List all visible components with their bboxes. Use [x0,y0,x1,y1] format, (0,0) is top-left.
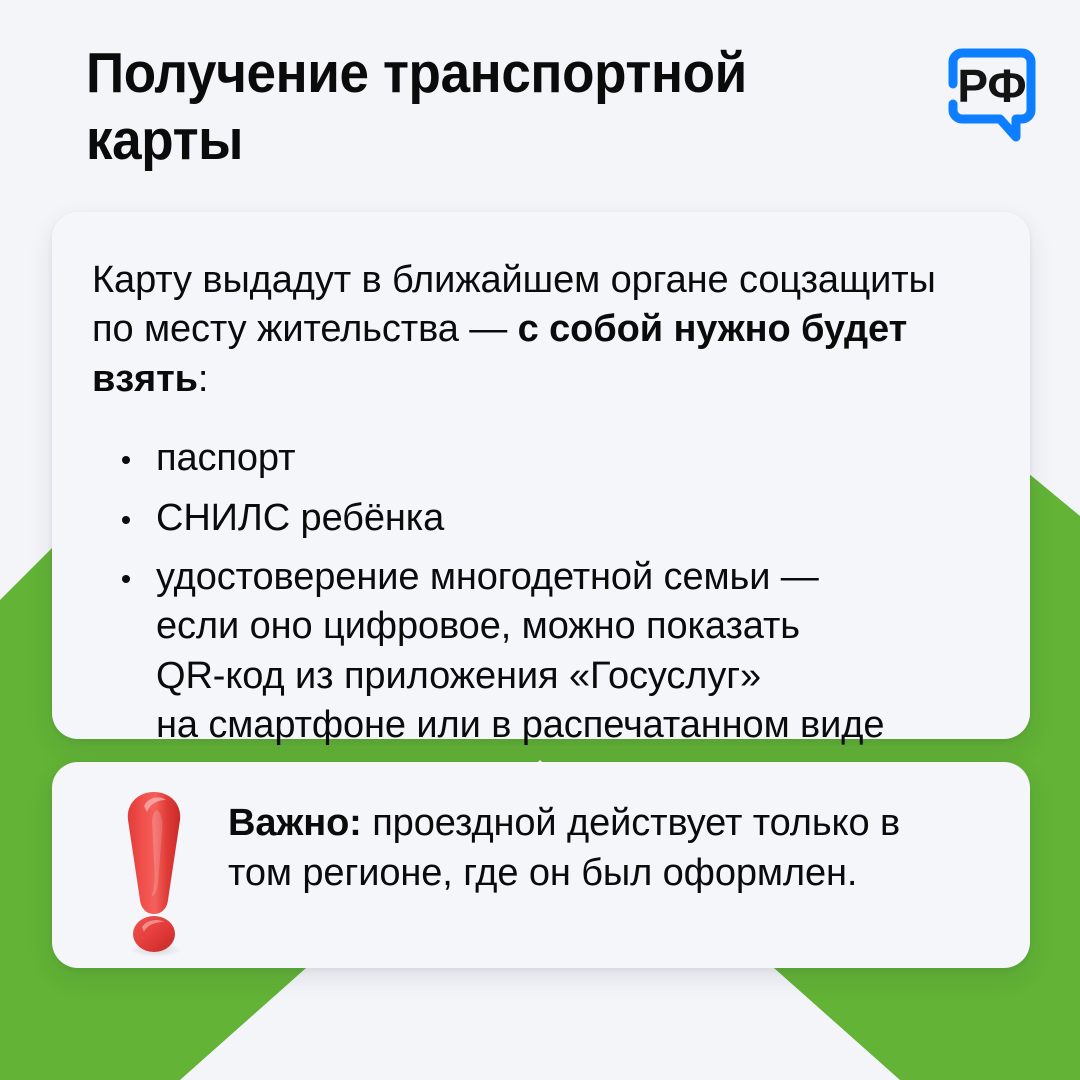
logo-text: РФ [957,60,1026,112]
page-title: Получение транспортной карты [86,40,747,175]
note-paragraph: Важно: проездной действует только в том … [228,784,968,898]
list-item: удостоверение многодетной семьи — если о… [112,553,984,751]
required-documents-list: паспорт СНИЛС ребёнка удостоверение мног… [92,434,984,750]
lead-paragraph: Карту выдадут в ближайшем органе соцзащи… [92,256,984,404]
note-label: Важно: [228,802,362,844]
infographic-canvas: Получение транспортной карты РФ Карту вы… [0,0,1080,1080]
list-item: паспорт [112,434,984,483]
lead-suffix: : [198,358,208,400]
gosuslugi-rf-logo: РФ [944,44,1040,148]
red-exclamation-icon [108,788,200,958]
important-note-card: Важно: проездной действует только в том … [52,762,1030,968]
list-item: СНИЛС ребёнка [112,494,984,543]
header: Получение транспортной карты РФ [86,40,1046,175]
main-info-card: Карту выдадут в ближайшем органе соцзащи… [52,212,1030,739]
